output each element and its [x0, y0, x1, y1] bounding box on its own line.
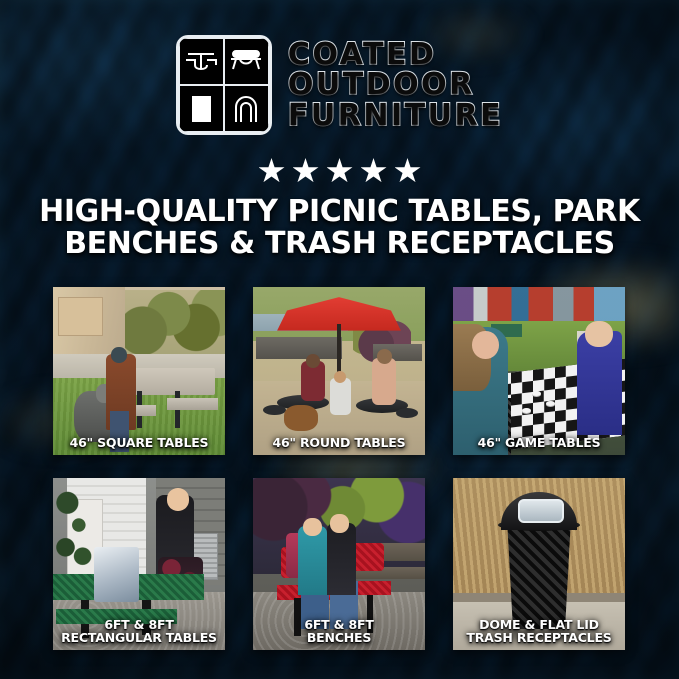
star-icon — [361, 158, 387, 184]
tile-caption: 6FT & 8FT BENCHES — [257, 618, 421, 645]
picnic-table-icon — [179, 38, 224, 85]
page-title: HIGH-QUALITY PICNIC TABLES, PARK BENCHES… — [34, 196, 645, 259]
caption-line: BENCHES — [257, 631, 421, 644]
star-rating — [0, 155, 679, 187]
photo-square-tables — [53, 287, 225, 455]
caption-line: 46" ROUND TABLES — [257, 436, 421, 449]
tile-caption: 46" GAME TABLES — [457, 436, 621, 449]
caption-line: 46" GAME TABLES — [457, 436, 621, 449]
caption-line: DOME & FLAT LID — [457, 618, 621, 631]
star-icon — [259, 158, 285, 184]
bench-icon — [224, 38, 269, 85]
caption-line: 46" SQUARE TABLES — [57, 436, 221, 449]
caption-line: RECTANGULAR TABLES — [57, 631, 221, 644]
photo-game-tables — [453, 287, 625, 455]
trash-receptacle-icon — [179, 85, 224, 132]
tile-trash-receptacles[interactable]: DOME & FLAT LID TRASH RECEPTACLES — [453, 478, 625, 650]
headline-line-1: HIGH-QUALITY PICNIC TABLES, PARK — [34, 196, 645, 228]
tile-benches[interactable]: 6FT & 8FT BENCHES — [253, 478, 425, 650]
caption-line: TRASH RECEPTACLES — [457, 631, 621, 644]
tile-round-tables[interactable]: 46" ROUND TABLES — [253, 287, 425, 455]
caption-line: 6FT & 8FT — [57, 618, 221, 631]
product-tile-grid: 46" SQUARE TABLES 46" ROUND TABLES — [53, 287, 626, 650]
brand-wordmark: COATED OUTDOOR FURNITURE — [288, 40, 503, 130]
tile-caption: 46" SQUARE TABLES — [57, 436, 221, 449]
star-icon — [327, 158, 353, 184]
wordmark-line-1: COATED — [288, 40, 503, 69]
tile-caption: DOME & FLAT LID TRASH RECEPTACLES — [457, 618, 621, 645]
wordmark-line-3: FURNITURE — [288, 101, 503, 130]
tile-square-tables[interactable]: 46" SQUARE TABLES — [53, 287, 225, 455]
logo-icon-grid — [176, 35, 272, 135]
tile-game-tables[interactable]: 46" GAME TABLES — [453, 287, 625, 455]
tile-rectangular-tables[interactable]: 6FT & 8FT RECTANGULAR TABLES — [53, 478, 225, 650]
bike-rack-icon — [224, 85, 269, 132]
brand-logo: COATED OUTDOOR FURNITURE — [0, 26, 679, 144]
tile-caption: 6FT & 8FT RECTANGULAR TABLES — [57, 618, 221, 645]
caption-line: 6FT & 8FT — [257, 618, 421, 631]
photo-round-tables — [253, 287, 425, 455]
tile-caption: 46" ROUND TABLES — [257, 436, 421, 449]
wordmark-line-2: OUTDOOR — [288, 70, 503, 99]
product-category-banner: COATED OUTDOOR FURNITURE HIGH-QUALITY PI… — [0, 0, 679, 679]
headline-line-2: BENCHES & TRASH RECEPTACLES — [34, 228, 645, 260]
star-icon — [293, 158, 319, 184]
star-icon — [395, 158, 421, 184]
